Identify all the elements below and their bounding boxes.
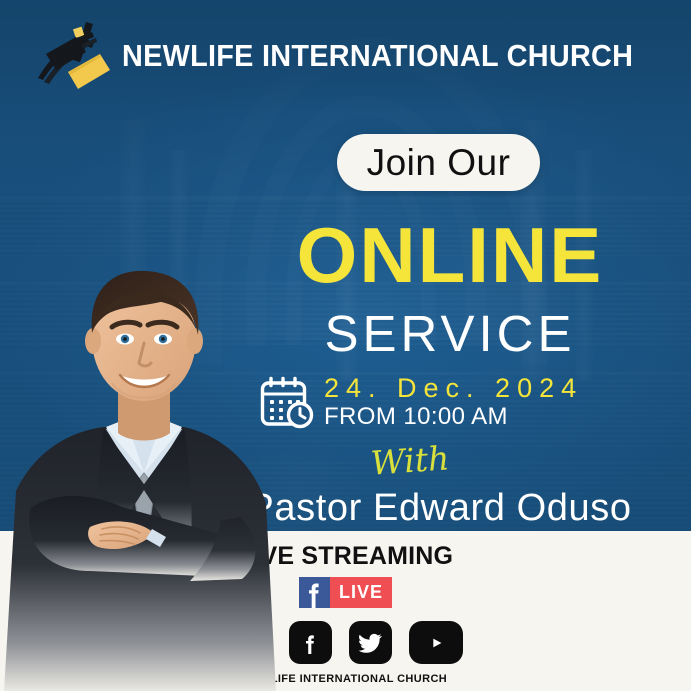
event-datetime-texts: 24. Dec. 2024 FROM 10:00 AM [324,372,583,431]
speaker-photo [0,241,294,691]
event-date: 24. Dec. 2024 [324,374,583,403]
event-time: FROM 10:00 AM [324,403,583,431]
join-our-badge[interactable]: Join Our [337,134,540,191]
twitter-icon[interactable] [349,621,392,664]
facebook-f-icon [299,577,330,608]
brand-title: NEWLIFE INTERNATIONAL CHURCH [122,38,633,74]
open-bible-cross-logo-icon [34,20,112,92]
header-bar: NEWLIFE INTERNATIONAL CHURCH [0,0,691,112]
poster-canvas: NEWLIFE INTERNATIONAL CHURCH Join Our ON… [0,0,691,691]
live-label: LIVE [330,577,392,608]
facebook-icon[interactable] [289,621,332,664]
youtube-icon[interactable] [409,621,463,664]
event-datetime-row: 24. Dec. 2024 FROM 10:00 AM [258,372,583,432]
join-our-label: Join Our [367,144,511,181]
